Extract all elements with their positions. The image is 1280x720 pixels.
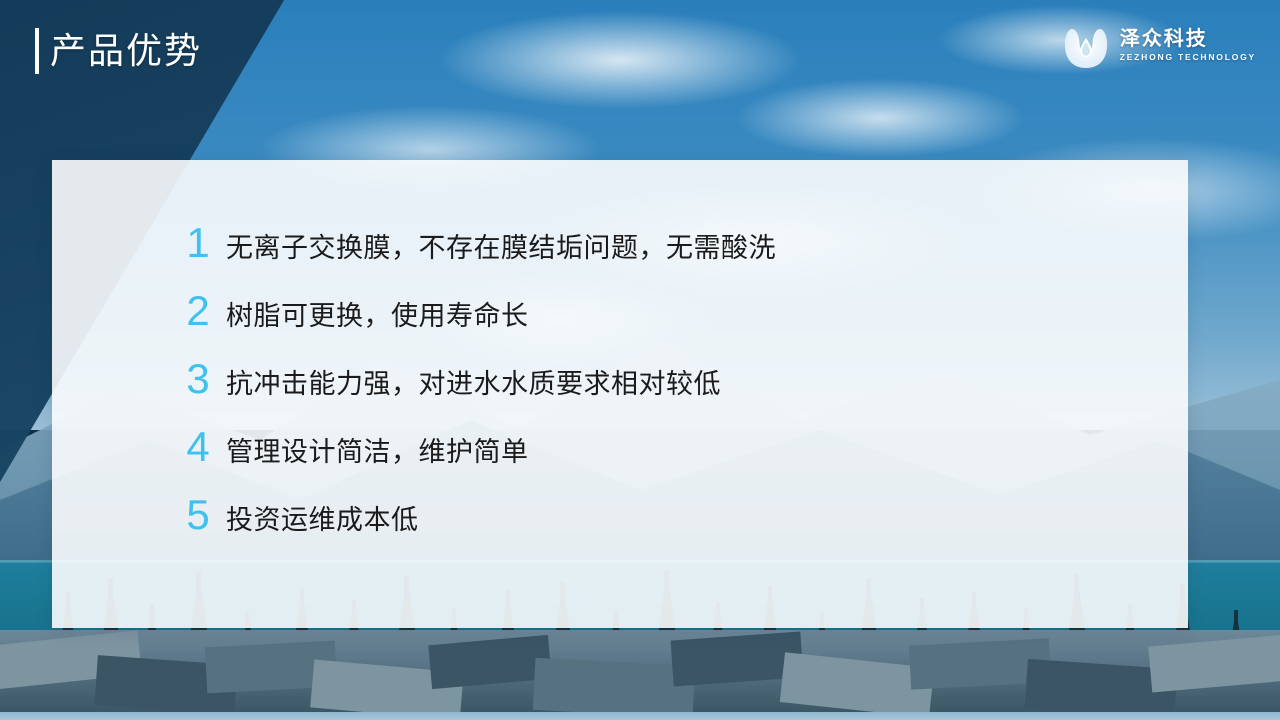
list-item-number: 1 <box>180 222 216 264</box>
list-item-text: 管理设计简洁，维护简单 <box>226 435 529 469</box>
logo-wordmark: 泽众科技 ZEZHONG TECHNOLOGY <box>1120 27 1256 63</box>
advantages-list: 1 无离子交换膜，不存在膜结垢问题，无需酸洗 2 树脂可更换，使用寿命长 3 抗… <box>180 222 776 562</box>
bottom-accent-band <box>0 712 1280 720</box>
rocky-foreground <box>0 630 1280 720</box>
list-item-text: 投资运维成本低 <box>226 503 419 537</box>
page-title: 产品优势 <box>35 28 202 74</box>
list-item-text: 树脂可更换，使用寿命长 <box>226 299 529 333</box>
list-item-number: 3 <box>180 358 216 400</box>
list-item-number: 5 <box>180 494 216 536</box>
logo-name-cn: 泽众科技 <box>1120 27 1256 51</box>
slide-header: 产品优势 泽众科技 ZEZHONG TECHN <box>0 0 1280 120</box>
list-item-number: 4 <box>180 426 216 468</box>
list-item: 5 投资运维成本低 <box>180 494 776 562</box>
list-item: 4 管理设计简洁，维护简单 <box>180 426 776 494</box>
brand-logo: 泽众科技 ZEZHONG TECHNOLOGY <box>1059 18 1256 72</box>
title-text: 产品优势 <box>50 28 202 74</box>
list-item-text: 抗冲击能力强，对进水水质要求相对较低 <box>226 367 721 401</box>
list-item: 2 树脂可更换，使用寿命长 <box>180 290 776 358</box>
water-drop-lotus-icon <box>1059 18 1113 72</box>
content-panel: 1 无离子交换膜，不存在膜结垢问题，无需酸洗 2 树脂可更换，使用寿命长 3 抗… <box>52 160 1188 628</box>
list-item-text: 无离子交换膜，不存在膜结垢问题，无需酸洗 <box>226 231 776 265</box>
title-accent-bar <box>35 28 39 74</box>
list-item: 1 无离子交换膜，不存在膜结垢问题，无需酸洗 <box>180 222 776 290</box>
slide: 产品优势 泽众科技 ZEZHONG TECHN <box>0 0 1280 720</box>
list-item-number: 2 <box>180 290 216 332</box>
list-item: 3 抗冲击能力强，对进水水质要求相对较低 <box>180 358 776 426</box>
logo-name-en: ZEZHONG TECHNOLOGY <box>1120 51 1256 63</box>
